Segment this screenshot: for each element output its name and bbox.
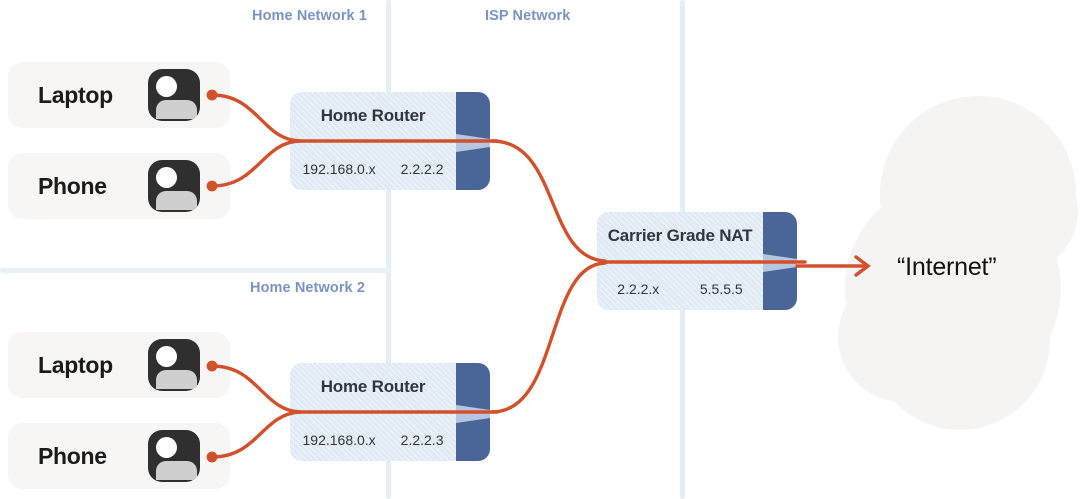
device-label: Laptop	[38, 82, 113, 109]
device-label: Phone	[38, 443, 107, 470]
node-home-router-1[interactable]: Home Router 192.168.0.x 2.2.2.2	[290, 92, 490, 190]
user-avatar-icon	[148, 339, 200, 391]
network-diagram-canvas: Home Network 1 ISP Network Home Network …	[0, 0, 1080, 499]
user-avatar-icon	[148, 160, 200, 212]
device-hn2-laptop[interactable]: Laptop	[8, 332, 230, 398]
device-hn1-laptop[interactable]: Laptop	[8, 62, 230, 128]
node-outside-ip: 2.2.2.2	[401, 161, 444, 177]
device-hn1-phone[interactable]: Phone	[8, 153, 230, 219]
divider-home1-home2	[0, 268, 390, 273]
wire-router2-to-cgnat	[492, 263, 605, 412]
node-home-router-2[interactable]: Home Router 192.168.0.x 2.2.2.3	[290, 363, 490, 461]
zone-label-home-network-2: Home Network 2	[250, 280, 365, 296]
user-avatar-icon	[148, 430, 200, 482]
node-nat-bar	[456, 363, 490, 461]
device-hn2-phone[interactable]: Phone	[8, 423, 230, 489]
node-inside-ip: 192.168.0.x	[303, 161, 376, 177]
node-inside-ip: 2.2.2.x	[617, 281, 659, 297]
node-nat-bar	[456, 92, 490, 190]
node-ip-row: 192.168.0.x 2.2.2.2	[290, 161, 456, 177]
node-inside-ip: 192.168.0.x	[303, 432, 376, 448]
node-ip-row: 192.168.0.x 2.2.2.3	[290, 432, 456, 448]
node-title: Home Router	[290, 377, 456, 397]
node-title: Home Router	[290, 106, 456, 126]
node-title: Carrier Grade NAT	[597, 226, 763, 246]
node-ip-row: 2.2.2.x 5.5.5.5	[597, 281, 763, 297]
zone-label-isp-network: ISP Network	[485, 8, 570, 24]
device-label: Laptop	[38, 352, 113, 379]
internet-label: “Internet”	[897, 253, 996, 282]
wire-router1-to-cgnat	[492, 141, 605, 261]
node-outside-ip: 5.5.5.5	[700, 281, 743, 297]
node-outside-ip: 2.2.2.3	[401, 432, 444, 448]
node-nat-bar	[763, 212, 797, 310]
device-label: Phone	[38, 173, 107, 200]
zone-label-home-network-1: Home Network 1	[252, 8, 367, 24]
node-carrier-grade-nat[interactable]: Carrier Grade NAT 2.2.2.x 5.5.5.5	[597, 212, 797, 310]
user-avatar-icon	[148, 69, 200, 121]
